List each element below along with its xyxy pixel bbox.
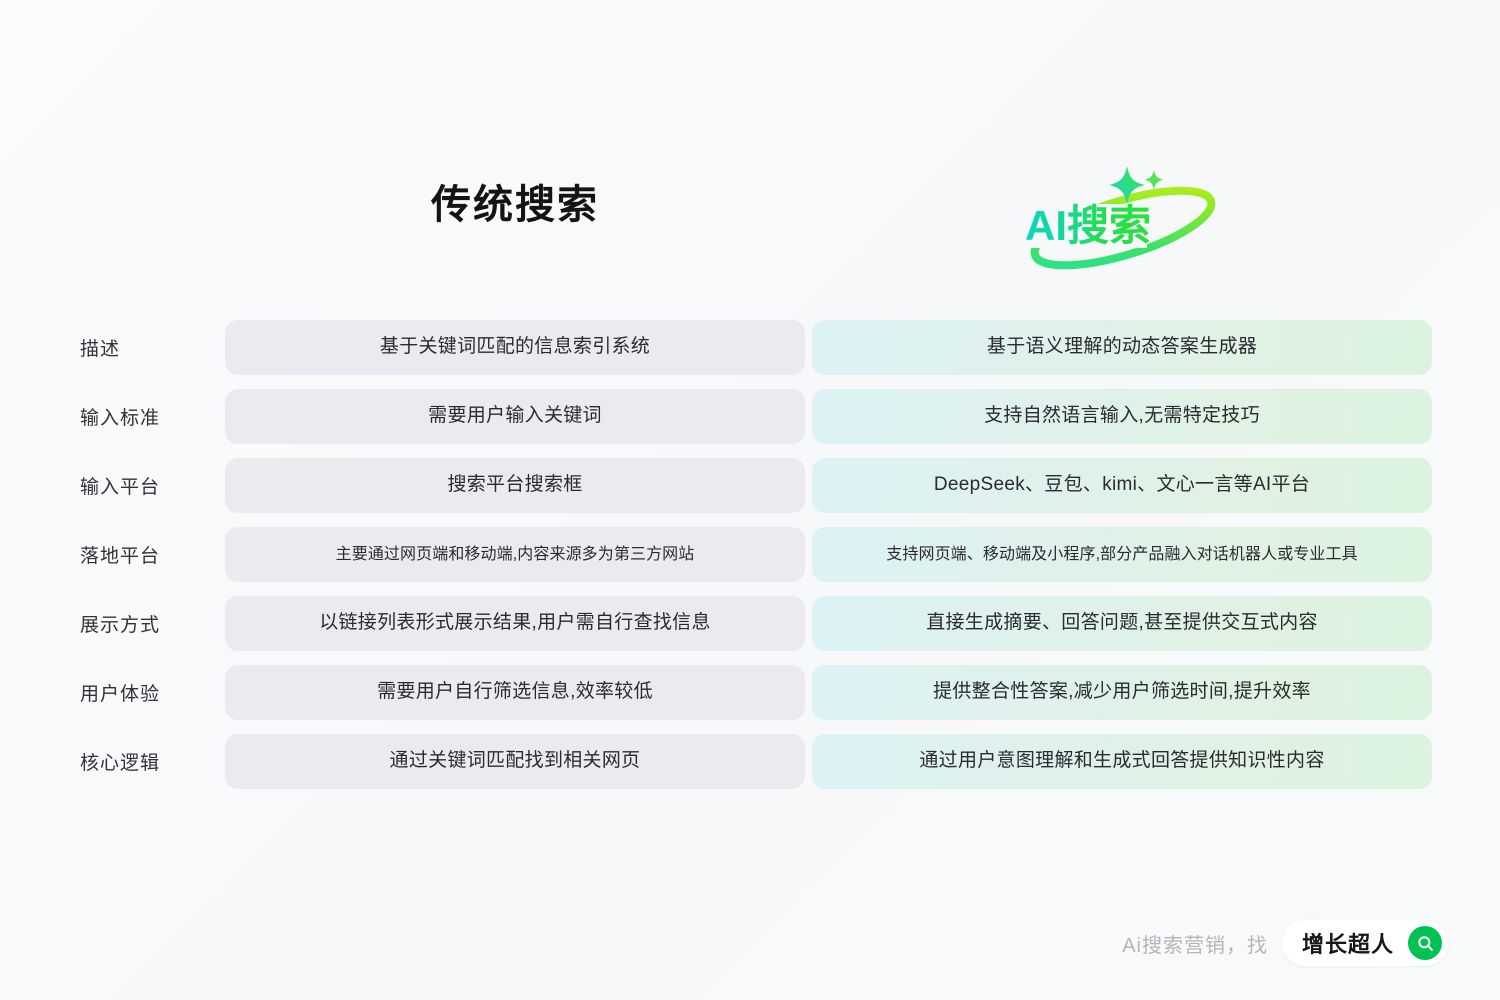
ai-search-logo-svg: AI搜索 [1007, 156, 1237, 280]
table-row: 展示方式 以链接列表形式展示结果,用户需自行查找信息 直接生成摘要、回答问题,甚… [0, 596, 1500, 651]
cell-traditional-input-platform: 搜索平台搜索框 [225, 458, 805, 513]
cell-traditional-user-experience: 需要用户自行筛选信息,效率较低 [225, 665, 805, 720]
cell-ai-presentation: 直接生成摘要、回答问题,甚至提供交互式内容 [812, 596, 1432, 651]
column-title-ai-search: AI搜索 [812, 150, 1432, 280]
row-label-core-logic: 核心逻辑 [80, 734, 215, 789]
search-icon[interactable] [1408, 926, 1442, 960]
cell-traditional-presentation: 以链接列表形式展示结果,用户需自行查找信息 [225, 596, 805, 651]
cell-traditional-core-logic: 通过关键词匹配找到相关网页 [225, 734, 805, 789]
row-label-input-standard: 输入标准 [80, 389, 215, 444]
cell-ai-input-platform: DeepSeek、豆包、kimi、文心一言等AI平台 [812, 458, 1432, 513]
cell-ai-landing-platform: 支持网页端、移动端及小程序,部分产品融入对话机器人或专业工具 [812, 527, 1432, 582]
footer-watermark: Ai搜索营销，找 增长超人 [1122, 920, 1448, 966]
footer-tagline: Ai搜索营销，找 [1122, 929, 1268, 958]
search-glyph [1416, 934, 1435, 953]
brand-badge[interactable]: 增长超人 [1282, 920, 1448, 966]
cell-ai-input-standard: 支持自然语言输入,无需特定技巧 [812, 389, 1432, 444]
slide-canvas: 传统搜索 [0, 0, 1500, 1000]
cell-traditional-input-standard: 需要用户输入关键词 [225, 389, 805, 444]
brand-name: 增长超人 [1302, 927, 1394, 959]
row-label-input-platform: 输入平台 [80, 458, 215, 513]
table-row: 核心逻辑 通过关键词匹配找到相关网页 通过用户意图理解和生成式回答提供知识性内容 [0, 734, 1500, 789]
cell-ai-core-logic: 通过用户意图理解和生成式回答提供知识性内容 [812, 734, 1432, 789]
cell-ai-description: 基于语义理解的动态答案生成器 [812, 320, 1432, 375]
row-label-landing-platform: 落地平台 [80, 527, 215, 582]
table-row: 输入标准 需要用户输入关键词 支持自然语言输入,无需特定技巧 [0, 389, 1500, 444]
table-row: 落地平台 主要通过网页端和移动端,内容来源多为第三方网站 支持网页端、移动端及小… [0, 527, 1500, 582]
sparkle-small-icon [1144, 170, 1163, 190]
row-label-user-experience: 用户体验 [80, 665, 215, 720]
cell-traditional-landing-platform: 主要通过网页端和移动端,内容来源多为第三方网站 [225, 527, 805, 582]
table-row: 描述 基于关键词匹配的信息索引系统 基于语义理解的动态答案生成器 [0, 320, 1500, 375]
column-title-traditional-search: 传统搜索 [225, 172, 805, 230]
cell-traditional-description: 基于关键词匹配的信息索引系统 [225, 320, 805, 375]
table-row: 用户体验 需要用户自行筛选信息,效率较低 提供整合性答案,减少用户筛选时间,提升… [0, 665, 1500, 720]
cell-ai-user-experience: 提供整合性答案,减少用户筛选时间,提升效率 [812, 665, 1432, 720]
column-headers: 传统搜索 [0, 150, 1500, 280]
ai-search-logo: AI搜索 [1007, 156, 1237, 280]
comparison-table: 描述 基于关键词匹配的信息索引系统 基于语义理解的动态答案生成器 输入标准 需要… [0, 320, 1500, 803]
table-row: 输入平台 搜索平台搜索框 DeepSeek、豆包、kimi、文心一言等AI平台 [0, 458, 1500, 513]
ai-search-wordmark: AI搜索 [1025, 202, 1151, 249]
row-label-presentation: 展示方式 [80, 596, 215, 651]
row-label-description: 描述 [80, 320, 215, 375]
